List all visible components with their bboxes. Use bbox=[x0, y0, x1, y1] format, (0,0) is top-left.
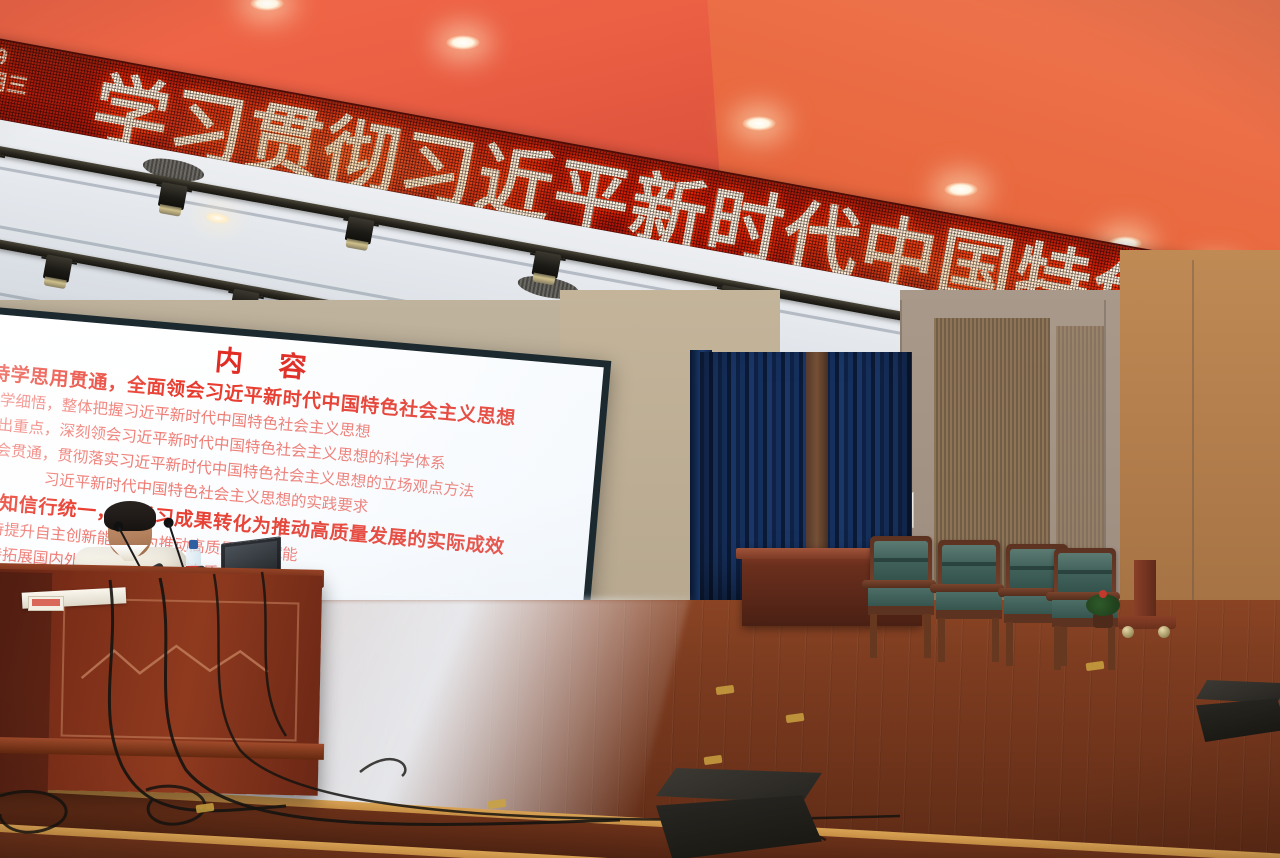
wall-seam bbox=[1192, 260, 1194, 620]
stage-light-fixture bbox=[0, 145, 3, 184]
potted-plant bbox=[1086, 594, 1120, 628]
ceiling-downlight bbox=[446, 35, 480, 50]
stage-monitor-speaker bbox=[656, 768, 822, 858]
stage-monitor-speaker bbox=[1196, 680, 1280, 742]
stage-chair[interactable] bbox=[862, 536, 940, 660]
stage-light-fixture bbox=[341, 214, 377, 253]
lectern-chevron-inlay bbox=[80, 638, 271, 686]
auditorium-photo: 3/07/19 :53 星期三 学习贯彻习近平新时代中国特色社会主义思想主题教育… bbox=[0, 0, 1280, 858]
red-name-placard bbox=[28, 596, 64, 611]
presenter-hair bbox=[104, 501, 156, 531]
ceiling-downlight bbox=[944, 182, 978, 197]
ceiling-downlight bbox=[742, 116, 776, 131]
rolling-cart[interactable] bbox=[1118, 560, 1176, 638]
stage-chair[interactable] bbox=[930, 540, 1008, 664]
curtain-gap-pillar bbox=[806, 352, 828, 552]
soffit-downlight bbox=[204, 210, 232, 226]
stage-light-fixture bbox=[39, 252, 75, 291]
stage-light-fixture bbox=[154, 180, 190, 219]
stage-light-fixture bbox=[528, 248, 564, 287]
